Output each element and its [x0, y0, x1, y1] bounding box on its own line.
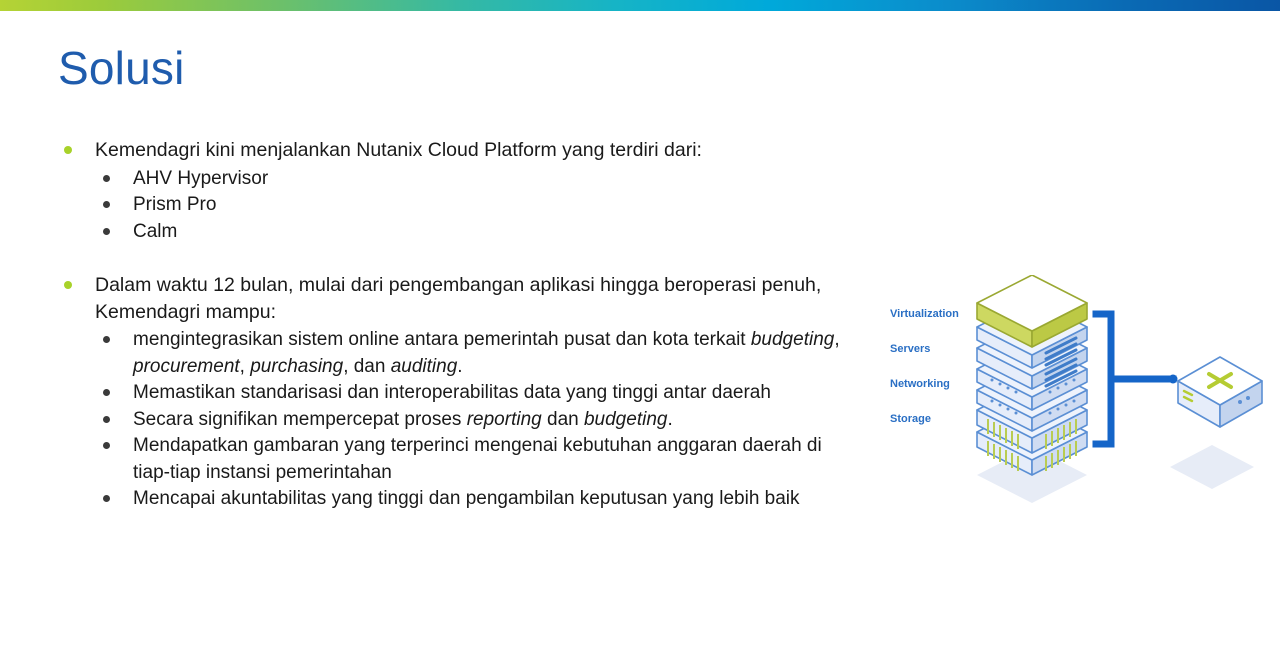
list-item: Memastikan standarisasi dan interoperabi…	[95, 380, 858, 407]
bullet-list-level1: Kemendagri kini menjalankan Nutanix Clou…	[58, 137, 858, 513]
stack-label-group: Virtualization Servers Networking Storag…	[890, 307, 985, 447]
group-spacer	[58, 245, 858, 272]
appliance-shadow	[1170, 445, 1254, 489]
bullet-list-group-2-children: mengintegrasikan sistem online antara pe…	[95, 327, 858, 513]
page-title: Solusi	[58, 44, 185, 92]
list-item: Mendapatkan gambaran yang terperinci men…	[95, 433, 858, 486]
stack-label-networking: Networking	[890, 377, 985, 412]
slide-body: Kemendagri kini menjalankan Nutanix Clou…	[58, 137, 858, 513]
bullet-group-2: Dalam waktu 12 bulan, mulai dari pengemb…	[58, 272, 858, 513]
list-item: Prism Pro	[95, 192, 858, 219]
bullet-group-1-lead: Kemendagri kini menjalankan Nutanix Clou…	[95, 137, 858, 164]
list-item: Calm	[95, 219, 858, 246]
top-gradient-band	[0, 0, 1280, 11]
bullet-list-group-1-children: AHV Hypervisor Prism Pro Calm	[95, 166, 858, 246]
stack-label-servers: Servers	[890, 342, 985, 377]
stack-label-storage: Storage	[890, 412, 985, 447]
stack-label-virtualization: Virtualization	[890, 307, 985, 342]
list-item: Secara signifikan mempercepat proses rep…	[95, 407, 858, 434]
list-item: AHV Hypervisor	[95, 166, 858, 193]
list-item: Mencapai akuntabilitas yang tinggi dan p…	[95, 486, 858, 513]
bullet-group-1: Kemendagri kini menjalankan Nutanix Clou…	[58, 137, 858, 245]
server-stack	[977, 275, 1087, 475]
bracket-connector	[1096, 314, 1173, 444]
list-item: mengintegrasikan sistem online antara pe…	[95, 327, 858, 380]
connector-endpoint	[1169, 375, 1178, 384]
infrastructure-diagram: Virtualization Servers Networking Storag…	[880, 275, 1275, 510]
nutanix-appliance	[1178, 357, 1262, 427]
bullet-group-2-lead: Dalam waktu 12 bulan, mulai dari pengemb…	[95, 272, 858, 325]
